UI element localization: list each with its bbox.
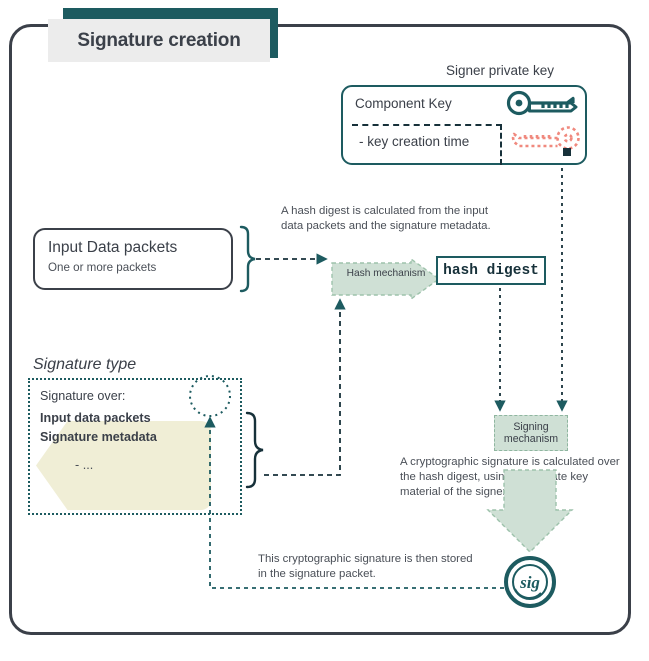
input-data-packets-subtitle: One or more packets xyxy=(48,261,156,274)
private-key-icon xyxy=(513,128,579,149)
key-icon xyxy=(509,93,578,114)
signature-type-caption: Signature type xyxy=(33,356,136,374)
diagram-canvas: Signature creation Signer private key Co… xyxy=(0,0,649,661)
input-data-packets-title: Input Data packets xyxy=(48,239,177,257)
key-creation-time-label: - key creation time xyxy=(359,134,469,149)
page-title: Signature creation xyxy=(77,30,240,52)
signing-explanation-note: A cryptographic signature is calculated … xyxy=(400,455,630,500)
input-data-packets-box xyxy=(33,228,233,290)
component-key-label: Component Key xyxy=(355,96,452,111)
signature-over-item-3: - ... xyxy=(75,458,93,472)
hash-explanation-note: A hash digest is calculated from the inp… xyxy=(281,204,511,234)
signer-private-key-caption: Signer private key xyxy=(446,63,554,78)
signing-mechanism-label: Signingmechanism xyxy=(504,421,558,446)
hash-mechanism-arrow xyxy=(331,258,441,300)
signing-mechanism-line-2: mechanism xyxy=(504,433,558,445)
signature-over-label: Signature over: xyxy=(40,389,125,403)
signature-storage-note: This cryptographic signature is then sto… xyxy=(258,552,478,582)
signing-mechanism-line-1: Signing xyxy=(513,421,548,433)
title-tab: Signature creation xyxy=(48,19,270,62)
hash-digest-box: hash digest xyxy=(436,256,546,285)
key-icons-group xyxy=(505,86,587,158)
hash-digest-label: hash digest xyxy=(443,263,539,279)
signing-mechanism-box: Signingmechanism xyxy=(494,415,568,451)
key-anchor-dot xyxy=(563,148,571,156)
signature-over-item-1: Input data packets xyxy=(40,411,151,425)
signature-over-item-2: Signature metadata xyxy=(40,430,157,444)
hash-mechanism-label: Hash mechanism xyxy=(338,268,434,279)
